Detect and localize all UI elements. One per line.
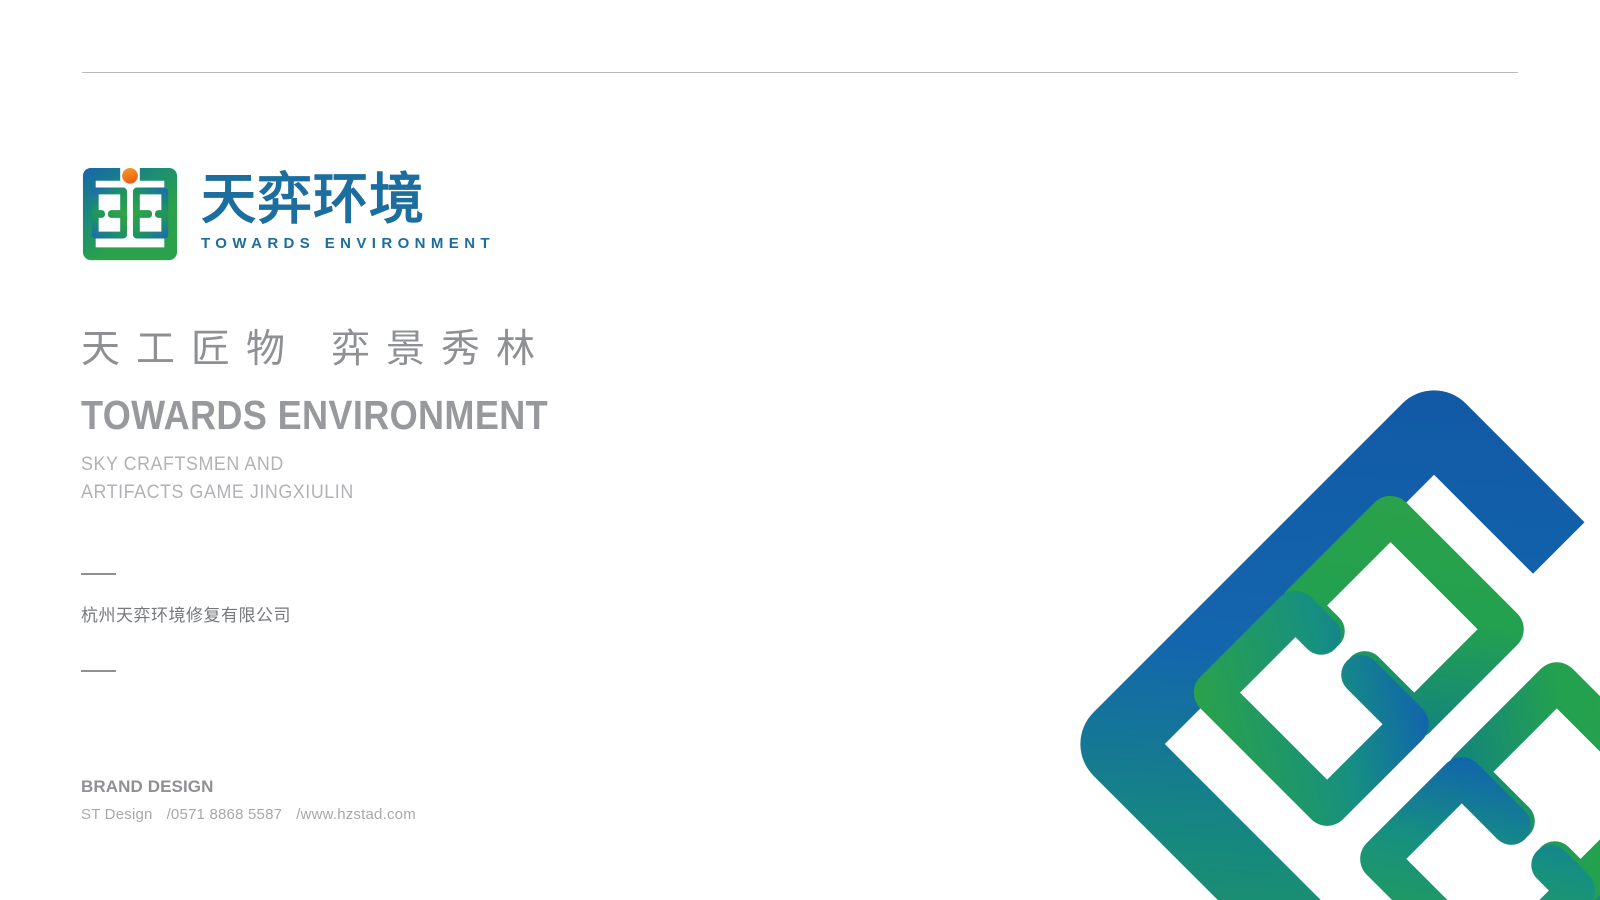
- subline-english-1: SKY CRAFTSMEN AND: [81, 451, 795, 479]
- cover-copy-block: 天工匠物弈景秀林 TOWARDS ENVIRONMENT SKY CRAFTSM…: [81, 327, 841, 506]
- brand-logo-wordmark: 天弈环境 TOWARDS ENVIRONMENT: [201, 166, 495, 251]
- footer-meta: ST Design/0571 8868 5587/www.hzstad.com: [81, 804, 416, 825]
- footer-block: BRAND DESIGN ST Design/0571 8868 5587/ww…: [81, 775, 416, 825]
- slogan-chinese-part1: 天工匠物: [81, 328, 301, 371]
- top-divider-rule: [82, 72, 1518, 73]
- brand-logo-english: TOWARDS ENVIRONMENT: [201, 236, 495, 251]
- towards-environment-logo-mark-icon: [81, 166, 179, 262]
- slogan-chinese: 天工匠物弈景秀林: [81, 327, 841, 373]
- footer-website[interactable]: /www.hzstad.com: [296, 806, 416, 823]
- divider-dash-above-company: [81, 573, 116, 575]
- headline-english: TOWARDS ENVIRONMENT: [81, 395, 750, 436]
- slogan-chinese-part2: 弈景秀林: [331, 328, 551, 371]
- corner-watermark-logo-mark-icon: [1042, 352, 1600, 900]
- brand-logo-chinese: 天弈环境: [201, 172, 495, 227]
- footer-title: BRAND DESIGN: [81, 775, 416, 800]
- footer-studio: ST Design: [81, 806, 153, 823]
- company-name-chinese: 杭州天弈环境修复有限公司: [81, 607, 291, 624]
- divider-dash-below-company: [81, 670, 116, 672]
- subline-english-2: ARTIFACTS GAME JINGXIULIN: [81, 479, 795, 507]
- brand-cover-page: 天弈环境 TOWARDS ENVIRONMENT 天工匠物弈景秀林 TOWARD…: [0, 0, 1600, 900]
- accent-dot: [122, 168, 138, 184]
- brand-logo-lockup: 天弈环境 TOWARDS ENVIRONMENT: [81, 166, 495, 262]
- footer-phone[interactable]: /0571 8868 5587: [167, 806, 283, 823]
